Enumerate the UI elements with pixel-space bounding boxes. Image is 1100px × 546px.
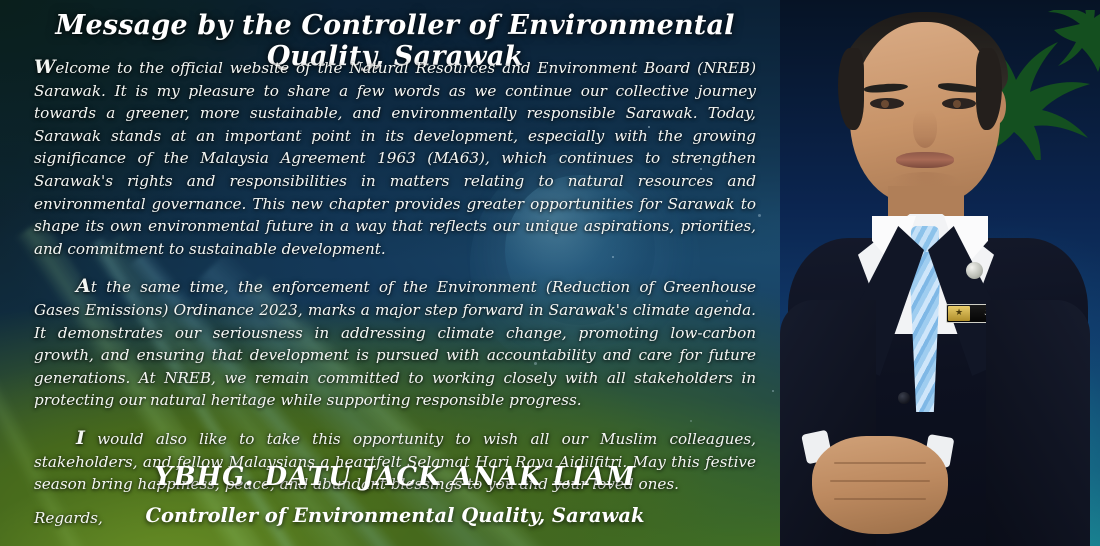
letter-paragraph-1: Welcome to the official website of the N… [34, 56, 756, 260]
portrait-eye [870, 98, 904, 109]
portrait-jacket-button [898, 392, 910, 404]
portrait-mouth [896, 152, 954, 168]
letter-paragraph-2: At the same time, the enforcement of the… [34, 275, 756, 412]
signature-name: YBHG. DATU JACK ANAK LIAM [0, 462, 790, 492]
paragraph-dropcap: I [76, 427, 85, 449]
portrait-arm [986, 300, 1090, 546]
portrait-eye [942, 98, 976, 109]
signature-block: YBHG. DATU JACK ANAK LIAM Controller of … [0, 462, 790, 527]
crest-icon: ★ [948, 306, 970, 321]
paragraph-dropcap: A [76, 275, 91, 297]
controller-message-banner: ★ JACK Message by the Controller of Envi… [0, 0, 1100, 546]
paragraph-dropcap: W [34, 56, 55, 78]
portrait-lapel-pin-icon [966, 262, 983, 279]
paragraph-text: t the same time, the enforcement of the … [34, 278, 756, 409]
signature-role: Controller of Environmental Quality, Sar… [0, 504, 790, 527]
portrait-photo: ★ JACK [780, 0, 1100, 546]
portrait-hair-side [838, 48, 864, 130]
portrait-nose [913, 110, 937, 148]
portrait-clasped-hands [812, 436, 948, 534]
paragraph-text: elcome to the official website of the Na… [34, 59, 756, 258]
